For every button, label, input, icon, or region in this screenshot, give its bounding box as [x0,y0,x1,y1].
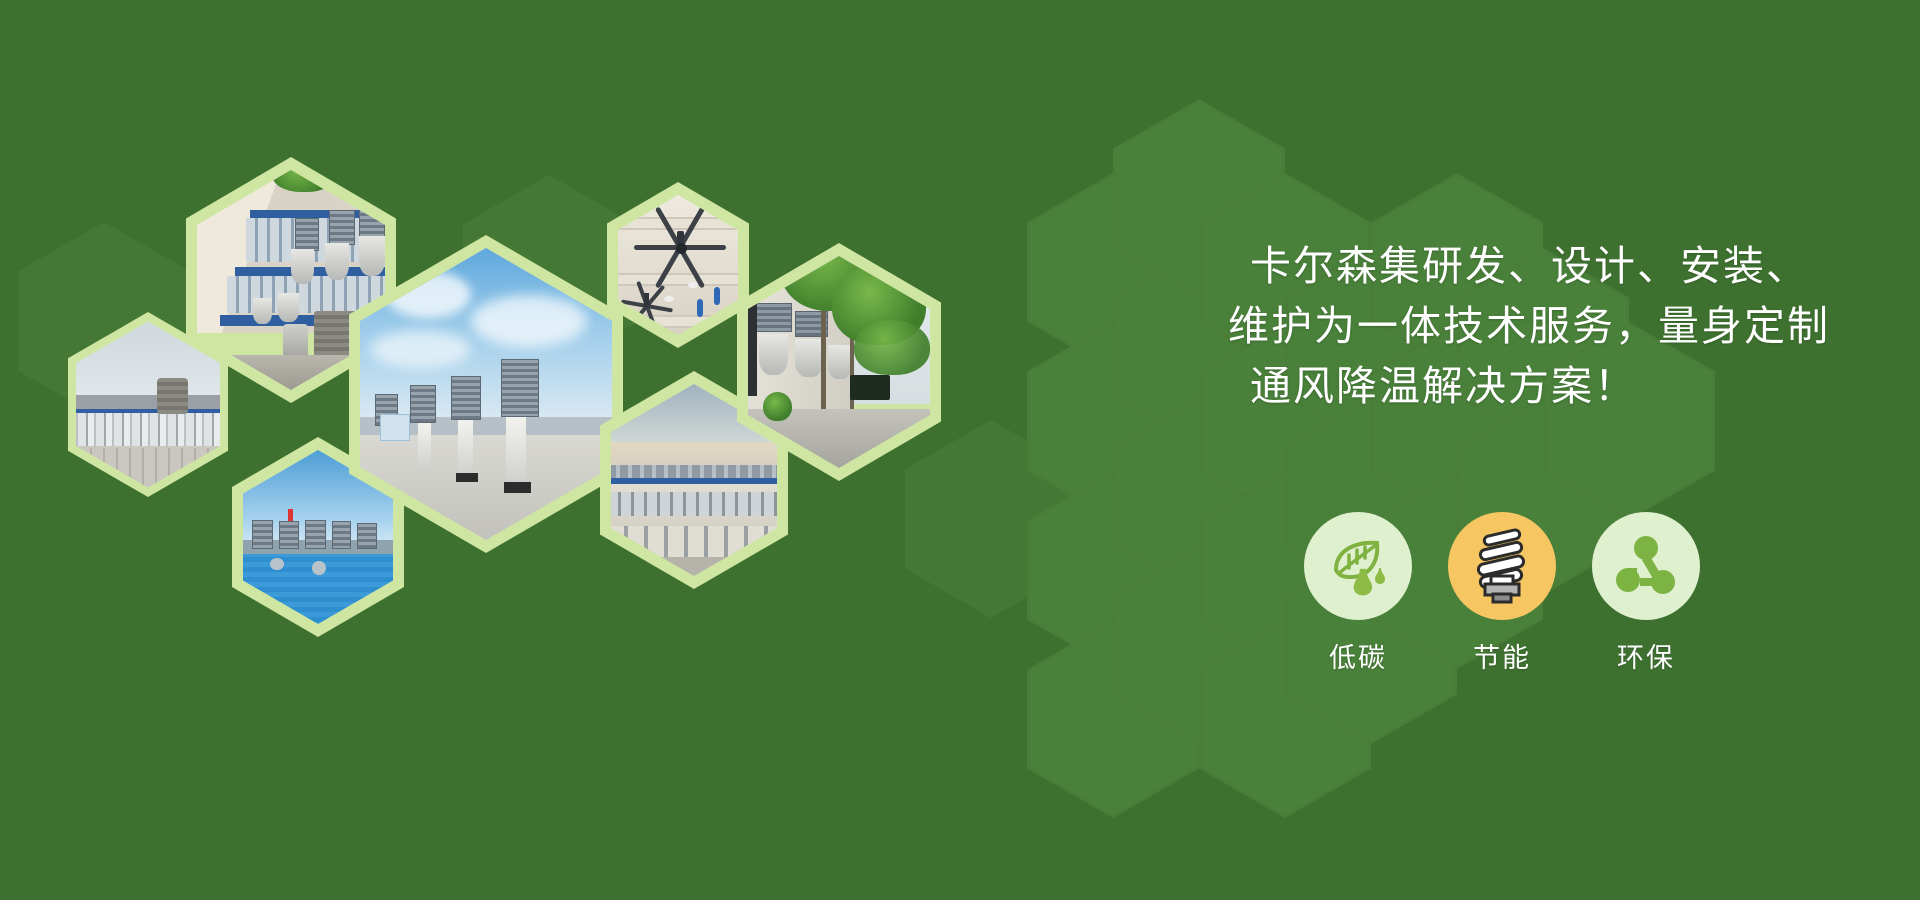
bg-hexagon [1027,620,1199,818]
gallery-hex-industrial-ceiling-fan[interactable] [607,182,749,348]
headline-line-2: 维护为一体技术服务，量身定制 [1228,296,1868,356]
feature-disc [1304,512,1412,620]
feature-disc [1592,512,1700,620]
leaf-water-drop-icon [1322,530,1394,602]
eco-molecule-icon [1612,532,1680,600]
gallery-hex-image [748,256,930,468]
bg-hexagon [1027,322,1199,520]
bg-hexagon [905,420,1077,618]
feature-badge-list: 低碳 节能 [1300,512,1704,675]
feature-label: 节能 [1444,636,1560,675]
feature-badge-energy-saving[interactable]: 节能 [1444,512,1560,675]
industrial-ceiling-fan-photo [618,195,738,335]
feature-disc [1448,512,1556,620]
hero-banner: 卡尔森集研发、设计、安装、 维护为一体技术服务，量身定制 通风降温解决方案！ 低… [0,0,1920,900]
feature-badge-low-carbon[interactable]: 低碳 [1300,512,1416,675]
bg-hexagon [1113,546,1285,744]
rooftop-cooler-array-photo [360,248,612,540]
headline-line-3: 通风降温解决方案！ [1228,356,1868,416]
bg-hexagon [1027,471,1199,669]
energy-saving-bulb-icon [1467,528,1537,604]
bg-hexagon [1113,397,1285,595]
gallery-hex-image [618,195,738,335]
headline-line-1: 卡尔森集研发、设计、安装、 [1228,236,1868,296]
gallery-hex-image [360,248,612,540]
feature-label: 环保 [1588,636,1704,675]
honeycomb-background [0,0,1920,900]
bg-hexagon [1027,173,1199,371]
headline-block: 卡尔森集研发、设计、安装、 维护为一体技术服务，量身定制 通风降温解决方案！ [1228,236,1868,416]
tree-lined-factory-street-photo [748,256,930,468]
feature-badge-eco-friendly[interactable]: 环保 [1588,512,1704,675]
feature-label: 低碳 [1300,636,1416,675]
